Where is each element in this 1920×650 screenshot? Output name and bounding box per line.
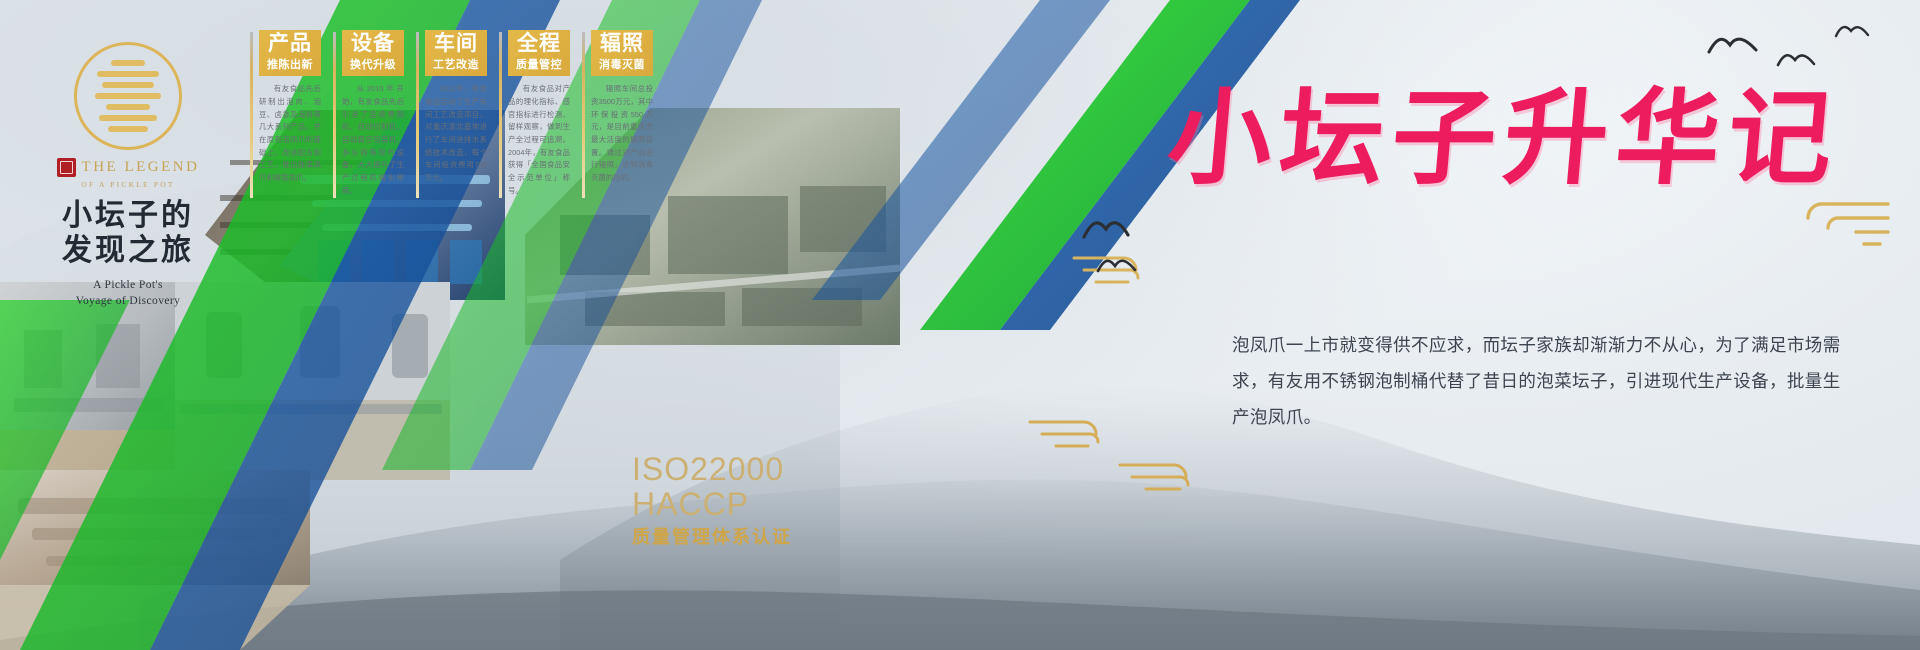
card-title: 产品 (263, 33, 317, 55)
card-body: 有友食品对产品的理化指标、感官指标进行检测、留样观察，做到生产全过程可追溯。20… (508, 83, 570, 198)
card-subtitle: 工艺改造 (429, 56, 483, 72)
card-title: 辐照 (595, 33, 649, 55)
card-title: 车间 (429, 33, 483, 55)
certification-haccp-line: HACCP (632, 487, 792, 522)
brand-en-subtitle-line2: Voyage of Discovery (18, 293, 238, 310)
certification-zh-line: 质量管理体系认证 (632, 523, 792, 549)
card-header: 全程 质量管控 (508, 30, 570, 76)
gold-cloud-icon-lower-left (1028, 412, 1140, 462)
red-chop-icon (57, 158, 76, 177)
card-rail (499, 32, 502, 198)
brand-zh-title: 小坛子的 发现之旅 (18, 199, 238, 269)
info-card-row: 产品 推陈出新 有友食品先后研制出泡肉、泡豆、卤香及海鲜等几大系列产品，并在原有… (250, 30, 653, 198)
brand-block: THE LEGEND OF A PICKLE POT 小坛子的 发现之旅 A P… (18, 42, 238, 310)
hero-paragraph: 泡凤爪一上市就变得供不应求，而坛子家族却渐渐力不从心，为了满足市场需求，有友用不… (1232, 328, 1842, 436)
card-header: 产品 推陈出新 (259, 30, 321, 76)
legend-en-text: THE LEGEND (82, 159, 200, 176)
bird-icon-left (1080, 215, 1140, 251)
gold-cloud-icon-lower-right (1116, 455, 1232, 507)
brand-en-subtitle: A Pickle Pot's Voyage of Discovery (18, 277, 238, 310)
card-rail (582, 32, 585, 198)
card-title: 设备 (346, 33, 400, 55)
card-rail (250, 32, 253, 198)
bird-icon-top-right-1 (1706, 32, 1762, 64)
page-title: 小坛子升华记 (1163, 88, 1844, 192)
card-subtitle: 消毒灭菌 (595, 56, 649, 72)
card-subtitle: 推陈出新 (263, 56, 317, 72)
info-card-workshop: 车间 工艺改造 2011年，有友食品启动了生产车间工艺改造项目，对重庆渝北基地进… (416, 30, 487, 198)
bird-icon-top-right-3 (1834, 22, 1870, 44)
card-header: 设备 换代升级 (342, 30, 404, 76)
gold-cloud-icon-right (1760, 196, 1890, 252)
bird-icon-left-small (1095, 255, 1139, 281)
brand-en-subtitle-line1: A Pickle Pot's (18, 277, 238, 294)
bird-icon-top-right-2 (1776, 50, 1816, 74)
card-body: 有友食品先后研制出泡肉、泡豆、卤香及海鲜等几大系列产品，并在原有泡凤爪的基础上，… (259, 83, 321, 185)
gold-cloud-icon-mid (1070, 250, 1180, 298)
certification-iso-line: ISO22000 (632, 452, 792, 487)
seal-emblem-icon (74, 42, 182, 150)
card-header: 车间 工艺改造 (425, 30, 487, 76)
brand-zh-title-line2: 发现之旅 (18, 234, 238, 269)
card-body: 辐照车间总投资3500万元，其中环保投资550万元，是目前重庆市最大活度的辐照装… (591, 83, 653, 185)
legend-sub-text: OF A PICKLE POT (18, 180, 238, 189)
poster-canvas: THE LEGEND OF A PICKLE POT 小坛子的 发现之旅 A P… (0, 0, 1920, 650)
card-subtitle: 换代升级 (346, 56, 400, 72)
info-card-irradiation: 辐照 消毒灭菌 辐照车间总投资3500万元，其中环保投资550万元，是目前重庆市… (582, 30, 653, 198)
certification-block: ISO22000 HACCP 质量管理体系认证 (632, 452, 792, 549)
card-subtitle: 质量管控 (512, 56, 566, 72)
card-rail (333, 32, 336, 198)
info-card-equipment: 设备 换代升级 从2010年开始，有友食品先后引进了连续煮制机、自动切割机、自动… (333, 30, 404, 198)
legend-wordmark: THE LEGEND (18, 158, 238, 177)
card-header: 辐照 消毒灭菌 (591, 30, 653, 76)
card-body: 2011年，有友食品启动了生产车间工艺改造项目，对重庆渝北基地进行了车间进排水系… (425, 83, 487, 185)
info-card-quality: 全程 质量管控 有友食品对产品的理化指标、感官指标进行检测、留样观察，做到生产全… (499, 30, 570, 198)
card-body: 从2010年开始，有友食品先后引进了连续煮制机、自动切割机、自动真空包装机、多头… (342, 83, 404, 198)
card-rail (416, 32, 419, 198)
brand-zh-title-line1: 小坛子的 (18, 199, 238, 234)
card-title: 全程 (512, 33, 566, 55)
info-card-product: 产品 推陈出新 有友食品先后研制出泡肉、泡豆、卤香及海鲜等几大系列产品，并在原有… (250, 30, 321, 198)
